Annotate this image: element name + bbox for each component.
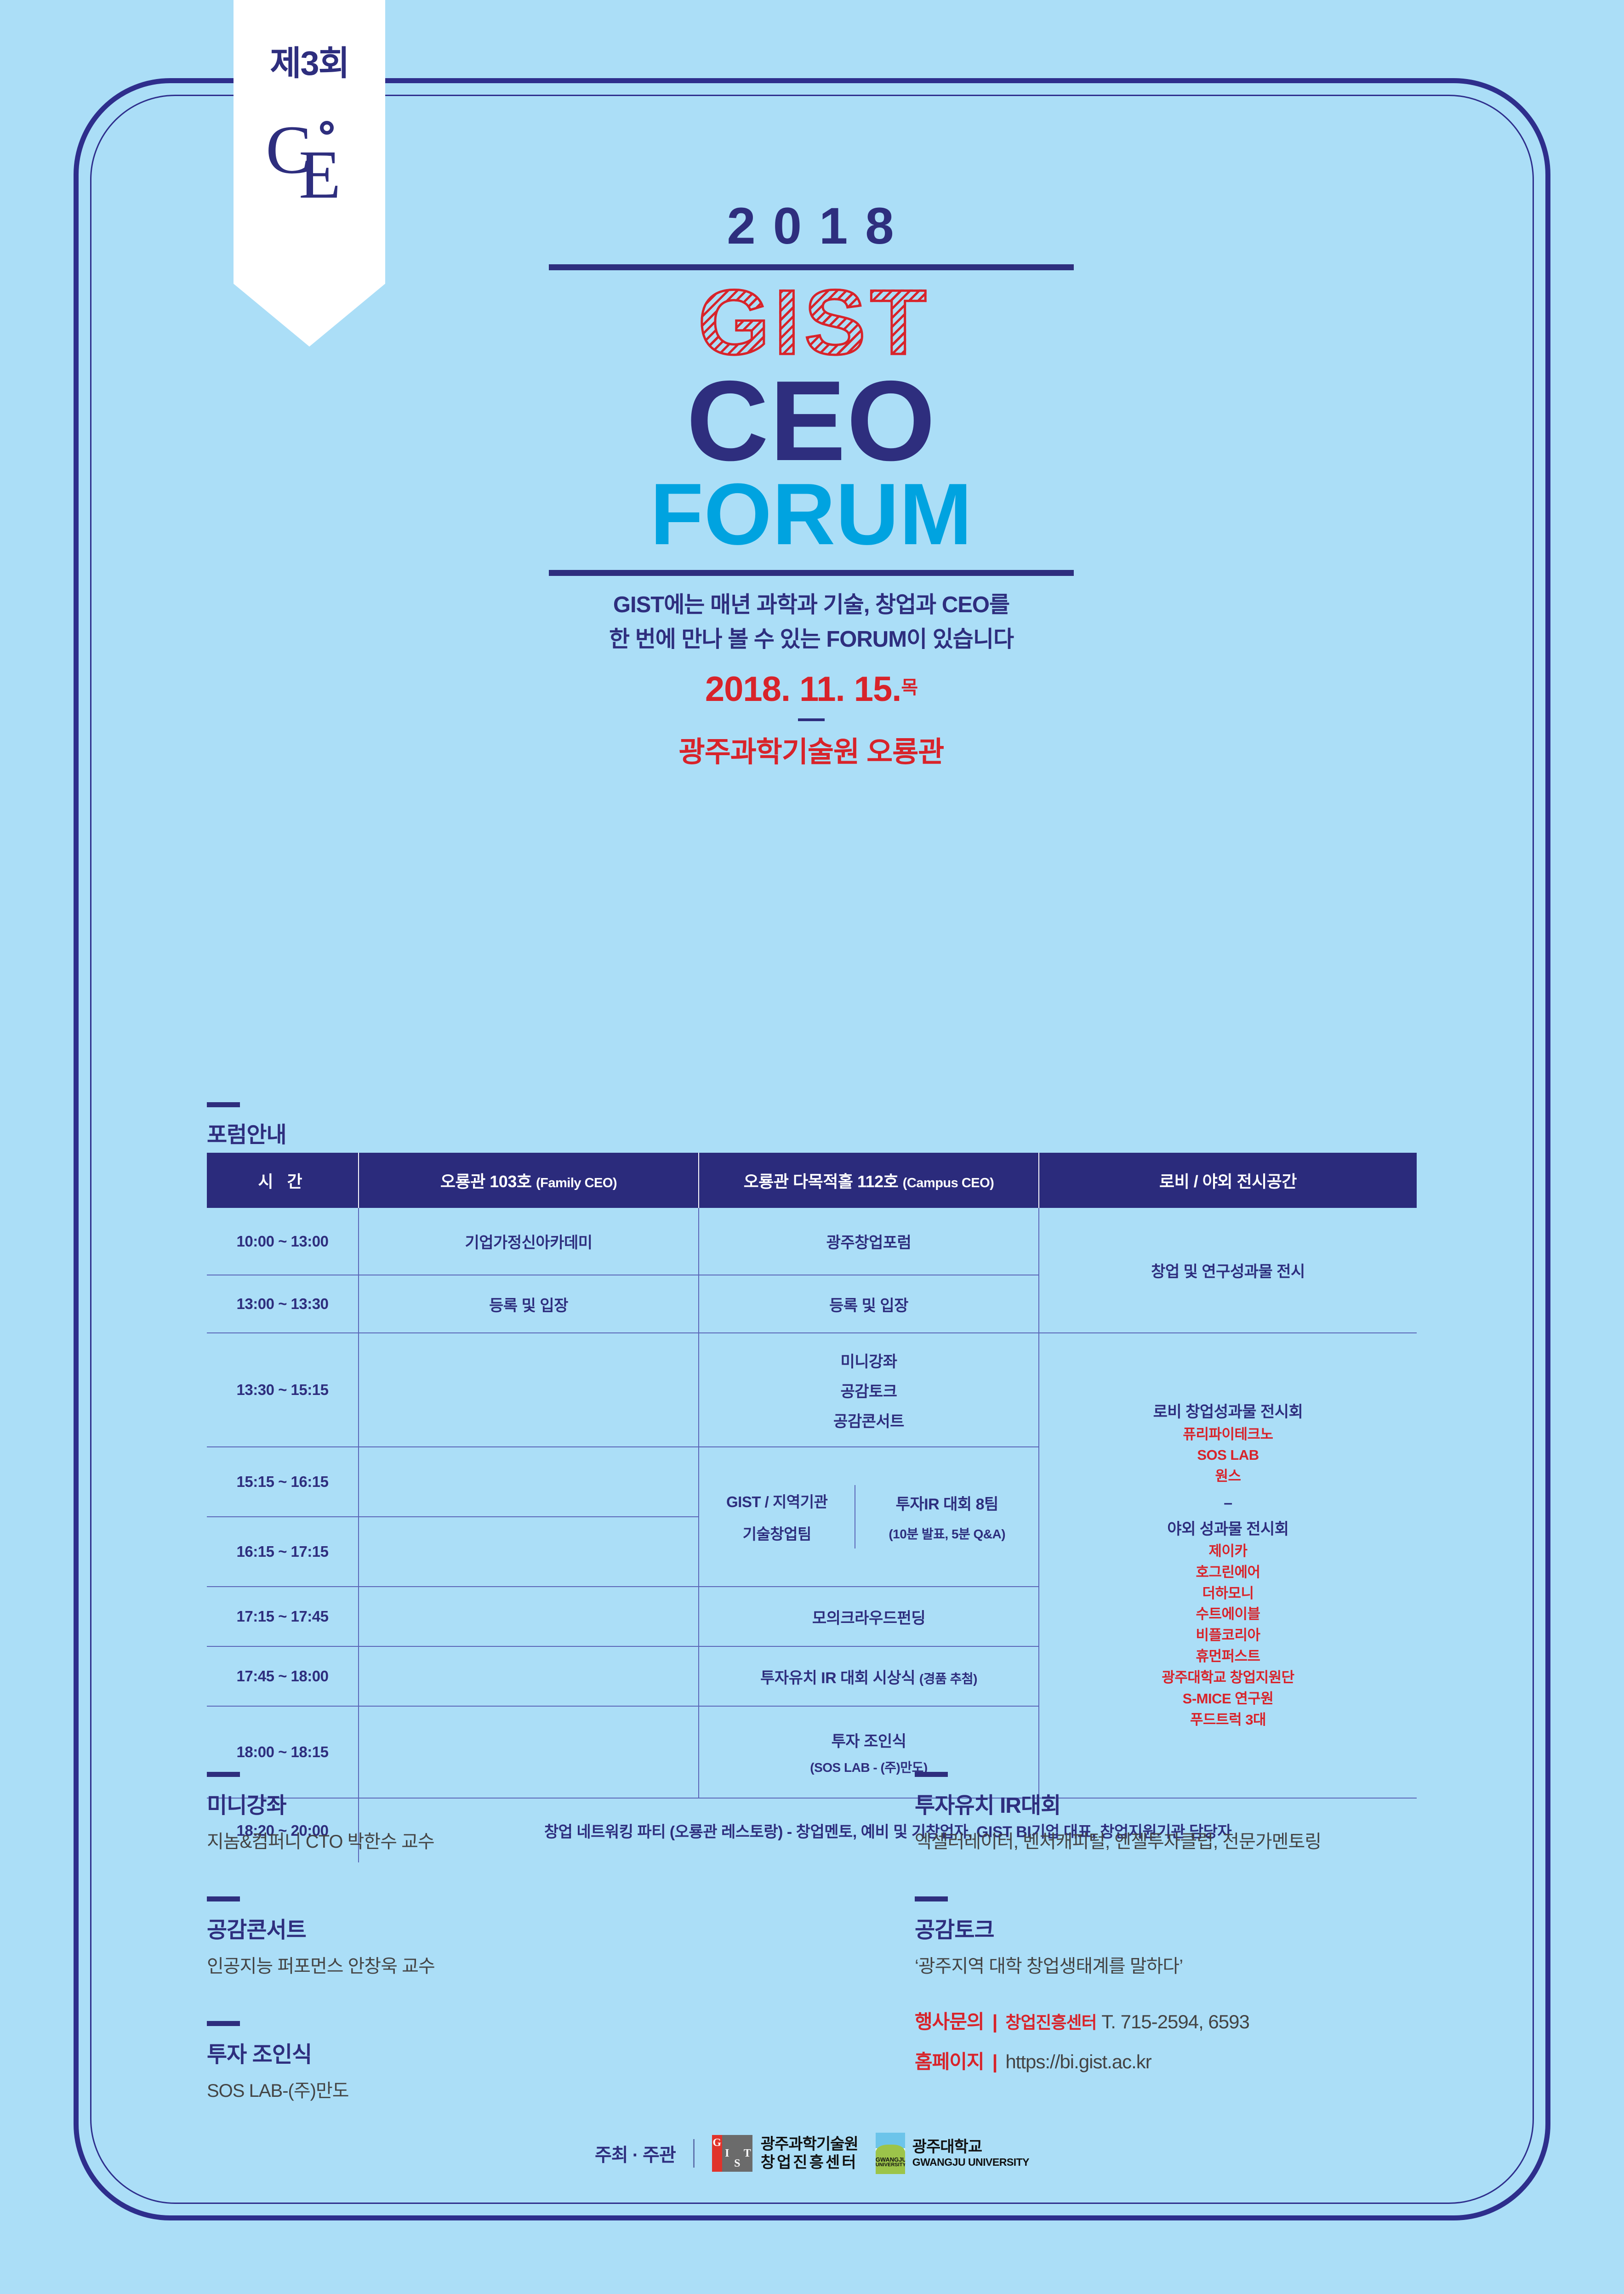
- signing-title: 투자 조인식: [832, 1733, 906, 1750]
- col-header-room-103: 오룡관 103호 (Family CEO): [359, 1153, 699, 1208]
- exhibit-item: 더하모니: [1043, 1583, 1413, 1604]
- hero-venue: 광주과학기술원 오룡관: [529, 729, 1094, 770]
- exhibit-item: 호그린에어: [1043, 1562, 1413, 1583]
- contact-block: 행사문의|창업진흥센터 T. 715-2594, 6593 홈페이지|https…: [915, 2006, 1512, 2074]
- contact-homepage-line: 홈페이지|https://bi.gist.ac.kr: [915, 2046, 1512, 2074]
- info-heading: 공감콘서트: [207, 1912, 804, 1944]
- hero-year: 2018: [544, 198, 1094, 254]
- info-detail: SOS LAB-(주)만도: [207, 2076, 804, 2102]
- info-block-mini-lecture: 미니강좌 지놈&컴퍼니 CTO 박한수 교수: [207, 1772, 804, 1853]
- cell-room112-program: 미니강좌 공감토크 공감콘서트: [699, 1333, 1039, 1447]
- row-time: 17:45 ~ 18:00: [207, 1646, 359, 1706]
- table-header-row: 시 간 오룡관 103호 (Family CEO) 오룡관 다목적홀 112호 …: [207, 1153, 1417, 1208]
- degree-circle-icon: [320, 121, 334, 135]
- program-empathy-concert: 공감콘서트: [703, 1409, 1035, 1431]
- cell-room112: 등록 및 입장: [699, 1275, 1039, 1333]
- row-time: 16:15 ~ 17:15: [207, 1517, 359, 1587]
- info-block-ir-competition: 투자유치 IR대회 엑셀러레이터, 벤처캐피털, 엔젤투자클럽, 전문가멘토링: [915, 1772, 1512, 1853]
- exhibit-item: 휴먼퍼스트: [1043, 1646, 1413, 1667]
- exhibit-item: 수트에이블: [1043, 1604, 1413, 1625]
- cell-room112: 광주창업포럼: [699, 1208, 1039, 1275]
- row-time: 17:15 ~ 17:45: [207, 1587, 359, 1646]
- monogram-e: E: [299, 140, 341, 209]
- col-header-time: 시 간: [207, 1153, 359, 1208]
- schedule-section-heading: 포럼안내: [207, 1102, 286, 1149]
- row-time: 13:30 ~ 15:15: [207, 1333, 359, 1447]
- exhibit-item: S-MICE 연구원: [1043, 1688, 1413, 1709]
- contact-inquiry-line: 행사문의|창업진흥센터 T. 715-2594, 6593: [915, 2006, 1512, 2034]
- ir-left-cell: GIST / 지역기관 기술창업팀: [699, 1485, 855, 1548]
- hero-date-value: 2018. 11. 15.: [705, 670, 901, 709]
- col-header-room-112: 오룡관 다목적홀 112호 (Campus CEO): [699, 1153, 1039, 1208]
- row-time: 15:15 ~ 16:15: [207, 1447, 359, 1517]
- info-heading: 투자유치 IR대회: [915, 1787, 1512, 1819]
- hero-date: 2018. 11. 15.목: [529, 669, 1094, 709]
- cell-room112: 모의크라우드펀딩: [699, 1587, 1039, 1646]
- exhibit-item: 비플코리아: [1043, 1625, 1413, 1646]
- program-empathy-talk: 공감토크: [703, 1379, 1035, 1401]
- poster-hero: 2018 GIST CEO FORUM GIST에는 매년 과학과 기술, 창업…: [529, 198, 1094, 770]
- info-block-investment-signing: 투자 조인식 SOS LAB-(주)만도: [207, 2021, 804, 2102]
- ir-left-line-2: 기술창업팀: [701, 1522, 853, 1544]
- gist-startup-center-logo: GIST 광주과학기술원 창업진흥센터: [712, 2135, 858, 2172]
- info-heading: 투자 조인식: [207, 2036, 804, 2068]
- cell-room103: 기업가정신아카데미: [359, 1208, 699, 1275]
- heading-accent-bar: [207, 1102, 240, 1107]
- info-accent-bar: [915, 1896, 948, 1901]
- cell-room112-ir: GIST / 지역기관 기술창업팀 투자IR 대회 8팀 (10분 발표, 5분…: [699, 1447, 1039, 1587]
- info-accent-bar: [207, 1896, 240, 1901]
- gwu-mark-label: GWANGJU UNIVERSITY: [876, 2157, 905, 2168]
- exhibit-item: SOS LAB: [1043, 1445, 1413, 1466]
- row-time: 10:00 ~ 13:00: [207, 1208, 359, 1275]
- cell-room103: [359, 1447, 699, 1517]
- info-column-left: 미니강좌 지놈&컴퍼니 CTO 박한수 교수 공감콘서트 인공지능 퍼포먼스 안…: [207, 1772, 804, 2146]
- edition-number: 제3회: [270, 36, 348, 85]
- gwangju-university-mark-icon: GWANGJU UNIVERSITY: [876, 2133, 905, 2174]
- contact-inquiry-value: T. 715-2594, 6593: [1101, 2011, 1249, 2032]
- cell-room103: 등록 및 입장: [359, 1275, 699, 1333]
- exhibit-lobby-heading: 로비 창업성과물 전시회: [1043, 1400, 1413, 1423]
- info-accent-bar: [207, 2021, 240, 2026]
- hero-day-of-week: 목: [901, 677, 917, 698]
- table-row: 13:30 ~ 15:15 미니강좌 공감토크 공감콘서트 로비 창업성과물 전…: [207, 1333, 1417, 1447]
- hero-date-divider: [798, 718, 825, 721]
- hero-word-ceo: CEO: [529, 366, 1094, 475]
- cell-lobby: 창업 및 연구성과물 전시: [1039, 1208, 1417, 1333]
- info-detail: 엑셀러레이터, 벤처캐피털, 엔젤투자클럽, 전문가멘토링: [915, 1827, 1512, 1853]
- cell-room112-award: 투자유치 IR 대회 시상식 (경품 추첨): [699, 1646, 1039, 1706]
- info-column-right: 투자유치 IR대회 엑셀러레이터, 벤처캐피털, 엔젤투자클럽, 전문가멘토링 …: [915, 1772, 1512, 2086]
- gist-logo-text: 광주과학기술원 창업진흥센터: [761, 2135, 858, 2172]
- info-heading: 공감토크: [915, 1912, 1512, 1944]
- hero-rule-bottom: [549, 570, 1074, 576]
- ir-left-line-1: GIST / 지역기관: [701, 1490, 853, 1512]
- info-detail: 인공지능 퍼포먼스 안창욱 교수: [207, 1951, 804, 1978]
- info-accent-bar: [207, 1772, 240, 1777]
- cell-room103: [359, 1587, 699, 1646]
- exhibit-item: 원스: [1043, 1466, 1413, 1487]
- gwangju-university-logo: GWANGJU UNIVERSITY 광주대학교 GWANGJU UNIVERS…: [876, 2133, 1029, 2174]
- exhibit-outdoor-heading: 야외 성과물 전시회: [1043, 1518, 1413, 1541]
- exhibit-item: 푸드트럭 3대: [1043, 1709, 1413, 1730]
- contact-homepage-label: 홈페이지: [915, 2051, 984, 2072]
- contact-divider: |: [992, 2011, 997, 2032]
- contact-inquiry-label: 행사문의: [915, 2011, 984, 2032]
- contact-divider: |: [992, 2051, 997, 2072]
- hero-rule-top: [549, 264, 1074, 270]
- hero-word-forum: FORUM: [529, 471, 1094, 558]
- info-accent-bar: [915, 1772, 948, 1777]
- forum-schedule-table: 시 간 오룡관 103호 (Family CEO) 오룡관 다목적홀 112호 …: [207, 1153, 1417, 1862]
- exhibit-item: 퓨리파이테크노: [1043, 1424, 1413, 1445]
- ir-right-line-1: 투자IR 대회 8팀: [857, 1491, 1037, 1514]
- info-block-empathy-concert: 공감콘서트 인공지능 퍼포먼스 안창욱 교수: [207, 1896, 804, 1978]
- edition-ribbon: 제3회 C E: [234, 0, 385, 347]
- info-detail: ‘광주지역 대학 창업생태계를 말하다’: [915, 1951, 1512, 1978]
- row-time: 13:00 ~ 13:30: [207, 1275, 359, 1333]
- cell-room103: [359, 1517, 699, 1587]
- gist-mark-icon: GIST: [712, 2135, 752, 2172]
- cell-room103: [359, 1333, 699, 1447]
- info-heading: 미니강좌: [207, 1787, 804, 1819]
- hero-tagline-line-1: GIST에는 매년 과학과 기술, 창업과 CEO를: [529, 588, 1094, 622]
- ir-right-cell: 투자IR 대회 8팀 (10분 발표, 5분 Q&A): [855, 1485, 1038, 1548]
- gwu-logo-text: 광주대학교 GWANGJU UNIVERSITY: [912, 2138, 1029, 2168]
- exhibit-separator: –: [1043, 1491, 1413, 1514]
- contact-inquiry-org: 창업진흥센터: [1005, 2013, 1096, 2032]
- info-block-empathy-talk: 공감토크 ‘광주지역 대학 창업생태계를 말하다’: [915, 1896, 1512, 1978]
- table-row: 10:00 ~ 13:00 기업가정신아카데미 광주창업포럼 창업 및 연구성과…: [207, 1208, 1417, 1275]
- exhibit-item: 제이카: [1043, 1541, 1413, 1562]
- exhibit-item: 광주대학교 창업지원단: [1043, 1667, 1413, 1688]
- cell-exhibition-list: 로비 창업성과물 전시회 퓨리파이테크노 SOS LAB 원스 – 야외 성과물…: [1039, 1333, 1417, 1798]
- footer-host-label: 주최 · 주관: [595, 2140, 676, 2167]
- program-mini-lecture: 미니강좌: [703, 1349, 1035, 1372]
- ce-monogram-logo: C E: [266, 107, 353, 204]
- schedule-heading-text: 포럼안내: [207, 1116, 286, 1149]
- contact-homepage-url[interactable]: https://bi.gist.ac.kr: [1005, 2051, 1151, 2072]
- cell-room103: [359, 1646, 699, 1706]
- poster-footer: 주최 · 주관 GIST 광주과학기술원 창업진흥센터 GWANGJU UNIV…: [0, 2133, 1624, 2174]
- info-detail: 지놈&컴퍼니 CTO 박한수 교수: [207, 1827, 804, 1853]
- ir-right-line-2: (10분 발표, 5분 Q&A): [857, 1524, 1037, 1543]
- hero-tagline-line-2: 한 번에 만나 볼 수 있는 FORUM이 있습니다: [529, 622, 1094, 656]
- col-header-lobby-outdoor: 로비 / 야외 전시공간: [1039, 1153, 1417, 1208]
- footer-divider: [693, 2139, 695, 2168]
